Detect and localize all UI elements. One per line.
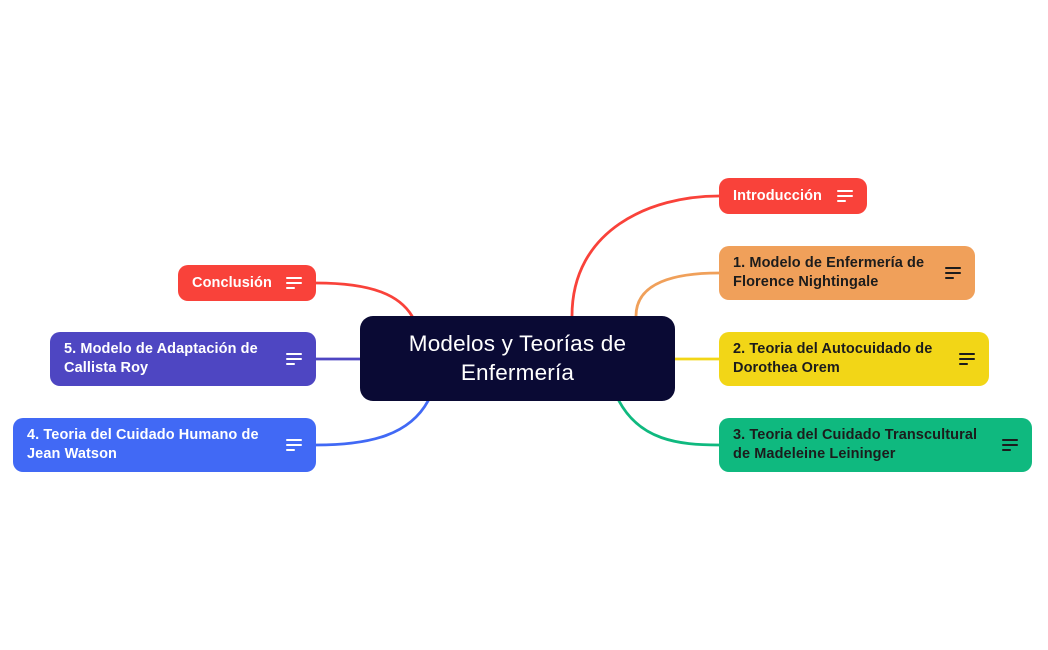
branch-node-label: 1. Modelo de Enfermería de Florence Nigh… (733, 254, 934, 291)
branch-node-conclusion[interactable]: Conclusión (178, 265, 316, 301)
note-lines-icon[interactable] (286, 276, 302, 290)
note-lines-icon[interactable] (945, 266, 961, 280)
branch-node-1[interactable]: 1. Modelo de Enfermería de Florence Nigh… (719, 246, 975, 300)
branch-node-4[interactable]: 4. Teoria del Cuidado Humano de Jean Wat… (13, 418, 316, 472)
root-node[interactable]: Modelos y Teorías de Enfermería (360, 316, 675, 401)
note-lines-icon[interactable] (286, 352, 302, 366)
branch-node-label: Introducción (733, 187, 826, 206)
branch-node-label: 3. Teoria del Cuidado Transcultural de M… (733, 426, 991, 463)
branch-node-5[interactable]: 5. Modelo de Adaptación de Callista Roy (50, 332, 316, 386)
branch-node-label: 4. Teoria del Cuidado Humano de Jean Wat… (27, 426, 275, 463)
branch-node-label: 5. Modelo de Adaptación de Callista Roy (64, 340, 275, 377)
branch-node-label: 2. Teoria del Autocuidado de Dorothea Or… (733, 340, 948, 377)
note-lines-icon[interactable] (959, 352, 975, 366)
note-lines-icon[interactable] (286, 438, 302, 452)
connector-intro (572, 196, 719, 316)
branch-node-label: Conclusión (192, 274, 275, 293)
mindmap-canvas: Modelos y Teorías de Enfermería Introduc… (0, 0, 1048, 650)
connector-b1 (636, 273, 719, 316)
root-node-label: Modelos y Teorías de Enfermería (378, 330, 657, 387)
connector-b3 (619, 401, 719, 445)
note-lines-icon[interactable] (1002, 438, 1018, 452)
branch-node-2[interactable]: 2. Teoria del Autocuidado de Dorothea Or… (719, 332, 989, 386)
connector-conclusion (316, 283, 412, 316)
connector-b4 (316, 401, 428, 445)
branch-node-3[interactable]: 3. Teoria del Cuidado Transcultural de M… (719, 418, 1032, 472)
note-lines-icon[interactable] (837, 189, 853, 203)
branch-node-intro[interactable]: Introducción (719, 178, 867, 214)
